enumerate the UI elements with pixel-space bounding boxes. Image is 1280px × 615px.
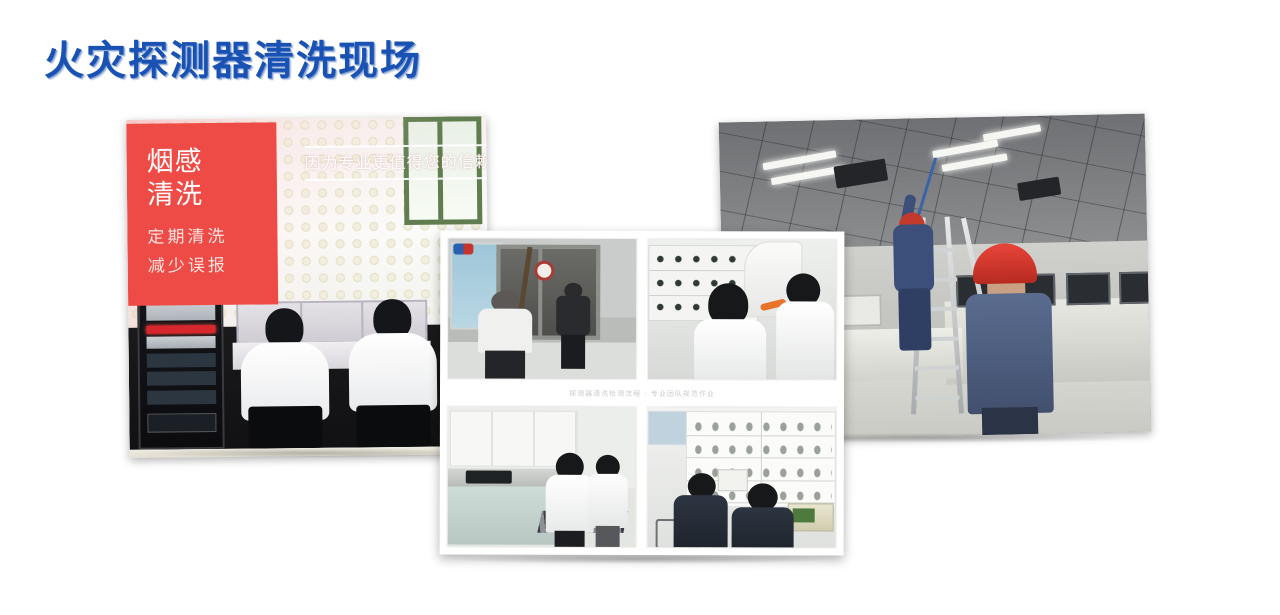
photo-left-shadow xyxy=(136,448,482,458)
ceiling-lamp xyxy=(983,124,1041,141)
wall-panel xyxy=(648,411,688,445)
grid-caption: 探测器清洗检测流程 · 专业团队规范作业 xyxy=(447,383,837,404)
slogan-text: 因为专业更值得您的信赖 xyxy=(305,146,490,179)
banner-slogan: 因为专业更值得您的信赖 xyxy=(305,144,490,181)
smoke-cleaning-badge[interactable]: 烟感 清洗 定期清洗 减少误报 xyxy=(126,122,278,306)
inspector-white-shirt xyxy=(478,291,532,377)
photo-card-lab-wall[interactable]: 因为专业更值得您的信赖 烟感 清洗 定期清洗 减少误报 xyxy=(126,116,490,458)
wall-sticker xyxy=(453,244,473,255)
ceiling-lamp xyxy=(941,153,1007,172)
technician-white-coat xyxy=(588,455,628,547)
badge-subtext-line2: 减少误报 xyxy=(148,252,228,282)
ceiling-vent xyxy=(1017,176,1061,200)
ceiling-lamp xyxy=(762,150,836,170)
technician-white-coat xyxy=(546,453,594,547)
badge-subtext: 定期清洗 减少误报 xyxy=(147,223,228,282)
seated-operator xyxy=(674,473,728,548)
grid-cell-storage-calibration[interactable] xyxy=(647,406,837,548)
technician-white-coat xyxy=(776,273,834,379)
certification-seal xyxy=(534,261,554,281)
photo-card-process-grid[interactable]: 探测器清洗检测流程 · 专业团队规范作业 xyxy=(440,230,845,555)
badge-subtext-line1: 定期清洗 xyxy=(147,223,227,253)
seated-worker xyxy=(236,308,333,449)
grid-cell-wash-station[interactable] xyxy=(447,405,637,547)
badge-headline: 烟感 清洗 xyxy=(147,145,204,212)
worker-dark-shirt xyxy=(556,283,590,369)
page-title: 火灾探测器清洗现场 xyxy=(44,28,422,86)
badge-headline-line2: 清洗 xyxy=(147,178,203,212)
grid-cell-clean-bench[interactable] xyxy=(647,238,837,380)
seated-operator xyxy=(732,483,794,548)
seated-worker xyxy=(344,299,442,448)
photo-grid-shadow xyxy=(452,554,834,564)
badge-headline-line1: 烟感 xyxy=(147,145,203,179)
worker-on-ladder xyxy=(891,194,940,328)
control-cabinet xyxy=(137,290,225,449)
grid-cell-corridor-inspection[interactable] xyxy=(447,237,637,379)
technician-white-coat xyxy=(694,283,766,380)
ultrasonic-sink xyxy=(466,471,512,484)
calibration-instrument xyxy=(788,503,834,531)
ceiling-vent xyxy=(833,159,888,189)
ceiling-lamp xyxy=(932,140,998,159)
supervisor-red-helmet xyxy=(964,243,1054,436)
